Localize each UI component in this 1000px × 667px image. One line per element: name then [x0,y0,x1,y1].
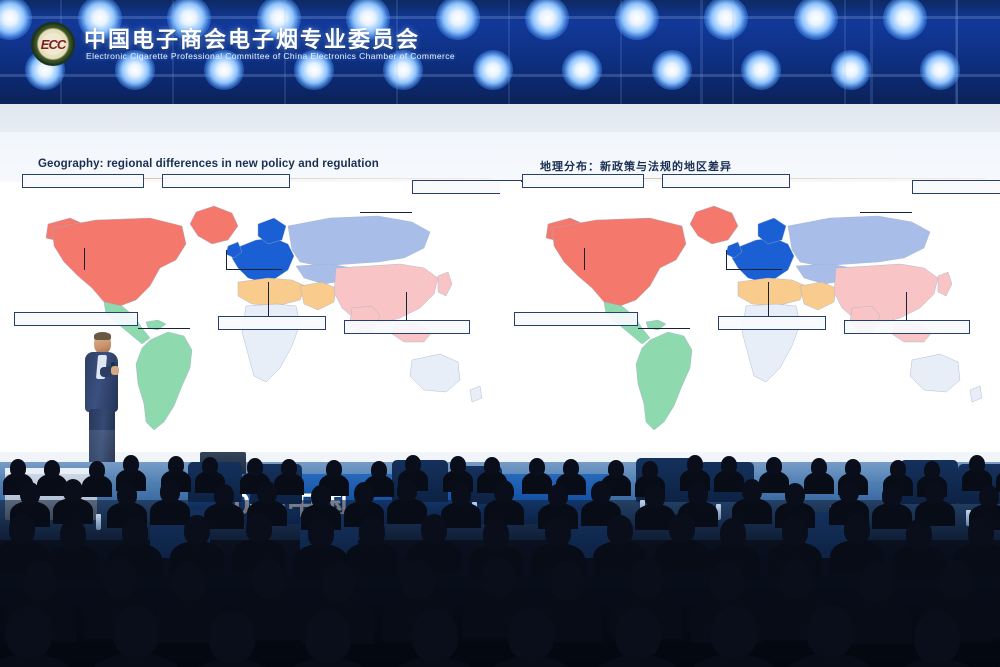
rigging-bar [870,0,873,112]
audience-member-head [688,482,708,505]
audience-member-head [782,516,808,546]
stage-lamp [883,0,927,40]
audience-member-head [214,484,234,507]
audience-member-head [844,514,870,544]
leader-europe-arm [726,269,782,270]
leader-europe [726,250,727,270]
audience-member-head [122,517,148,547]
stage-lamp [794,0,838,40]
audience-member-head [508,608,554,660]
truss-upright [508,0,510,112]
audience-member-head [890,460,906,478]
audience-member-head [925,481,945,504]
audience-member-head [371,461,387,479]
audience-member-head [607,515,633,545]
rigging-bar [955,0,958,112]
audience-member-head [10,459,26,477]
leader-north-america [584,248,585,270]
audience-member-head [481,557,515,596]
leader-mena [268,282,269,316]
audience-member-head [550,561,584,600]
projection-screen: Geography: regional differences in new p… [0,132,1000,462]
audience-member-head [257,481,277,504]
audience-member-head [608,460,624,478]
audience-member-head [548,484,568,507]
callout-mena [218,316,326,330]
audience-member-head [845,459,861,477]
audience-member-head [247,458,263,476]
audience-member-head [63,479,83,502]
audience-member-head [742,479,762,502]
audience-member-head [766,457,782,475]
audience-member-head [160,480,180,503]
audience-member-shoulders [345,542,399,576]
audience-member-shoulders [892,545,946,579]
audience-member-head [246,513,272,543]
audience-member-head [44,460,60,478]
audience-member-head [405,455,421,473]
audience-member-shoulders [655,539,709,573]
audience-member-head [721,456,737,474]
audience-member-head [484,457,500,475]
stage-lamp [473,50,513,90]
audience-member-head [252,559,286,598]
audience-member-head [529,458,545,476]
audience-member-head [281,459,297,477]
stage-lamp [652,50,692,90]
callout-europe [162,174,290,188]
stage-lamp [436,0,480,40]
audience-member-head [545,517,571,547]
audience-member-head [563,459,579,477]
stage-lamp [704,0,748,40]
audience-member-head [615,607,661,659]
slide-half-english [0,132,500,462]
callout-north-america-cn [522,174,644,188]
audience-member-head [591,481,611,504]
audience-member-head [969,455,985,473]
leader-mena [768,282,769,316]
audience-member-head [89,461,105,479]
audience-member-head [103,558,137,597]
rigging-bar [700,0,703,112]
audience-member-head [494,480,514,503]
callout-mena-cn [718,316,826,330]
audience-member-head [924,461,940,479]
audience-member-head [202,457,218,475]
leader-russia [360,212,412,213]
callout-asia-pacific [344,320,470,334]
stage-lamp [525,0,569,40]
conference-stage-photo: ECC 中国电子商会电子烟专业委员会 Electronic Cigarette … [0,0,1000,667]
audience-member-head [421,514,447,544]
leader-asia-pacific [906,292,907,320]
audience-member-head [779,559,813,598]
audience-member-head [117,483,137,506]
audience-member-head [305,610,351,662]
audience-member-head [906,519,932,549]
audience-member-head [645,485,665,508]
audience-member-head [20,482,40,505]
truss-beam-top [0,16,1000,19]
stage-lamp [831,50,871,90]
callout-asia-pacific-cn [844,320,970,334]
committee-logo: ECC [31,22,75,66]
audience-member-head [9,514,35,544]
speaker-hair [94,332,111,340]
audience-member-head [172,562,206,601]
stage-lamp [741,50,781,90]
audience-member-head [807,605,853,657]
slide-half-chinese [500,132,1000,462]
truss-upright [732,0,734,112]
leader-russia [860,212,912,213]
audience-member-head [113,605,159,657]
audience-member-head [326,460,342,478]
callout-europe-cn [662,174,790,188]
audience-member-head [914,611,960,663]
audience-member-head [184,515,210,545]
audience-member-head [311,485,331,508]
audience-member-head [669,513,695,543]
audience-member-head [359,516,385,546]
leader-latam [638,328,690,329]
audience-member-head [859,563,893,602]
audience-member-head [23,561,57,600]
audience-member-head [308,518,334,548]
audience-member-head [630,558,664,597]
leader-europe [226,250,227,270]
audience-member-head [642,461,658,479]
audience-member-head [397,479,417,502]
audience-member-head [687,455,703,473]
audience-member-head [483,519,509,549]
audience-member-head [354,482,374,505]
led-banner: ECC 中国电子商会电子烟专业委员会 Electronic Cigarette … [0,0,1000,112]
audience-member-head [60,519,86,549]
banner-title-cn: 中国电子商会电子烟专业委员会 [84,22,420,54]
audience-member-head [412,609,458,661]
leader-europe-arm [226,269,282,270]
truss-upright [620,0,622,112]
logo-monogram: ECC [42,33,64,55]
banner-title-en: Electronic Cigarette Professional Commit… [86,51,455,61]
water-bottle [96,514,101,530]
stage-lamp [0,0,32,40]
audience-member-head [839,480,859,503]
speaker-hand [111,366,119,375]
stage-lamp [562,50,602,90]
audience-member-head [720,518,746,548]
callout-russia-central-asia-cn [912,180,1000,194]
audience-member-head [979,485,999,508]
audience-member-head [811,458,827,476]
callout-north-america [22,174,144,188]
audience-member-head [785,483,805,506]
audience-member-head [6,606,52,658]
audience-member-head [451,483,471,506]
audience-member-head [168,456,184,474]
audience-member-head [939,560,973,599]
audience-member-head [711,606,757,658]
leader-asia-pacific [406,292,407,320]
audience-member-head [401,560,435,599]
audience [0,440,1000,667]
leader-north-america [84,248,85,270]
audience-member-head [321,563,355,602]
audience-member-head [882,484,902,507]
truss-upright [844,0,846,112]
audience-member-head [710,562,744,601]
audience-member-head [123,455,139,473]
callout-latam [14,312,138,326]
audience-member-head [450,456,466,474]
callout-latam-cn [514,312,638,326]
leader-latam [138,328,190,329]
audience-member-head [209,611,255,663]
audience-member-head [968,517,994,547]
